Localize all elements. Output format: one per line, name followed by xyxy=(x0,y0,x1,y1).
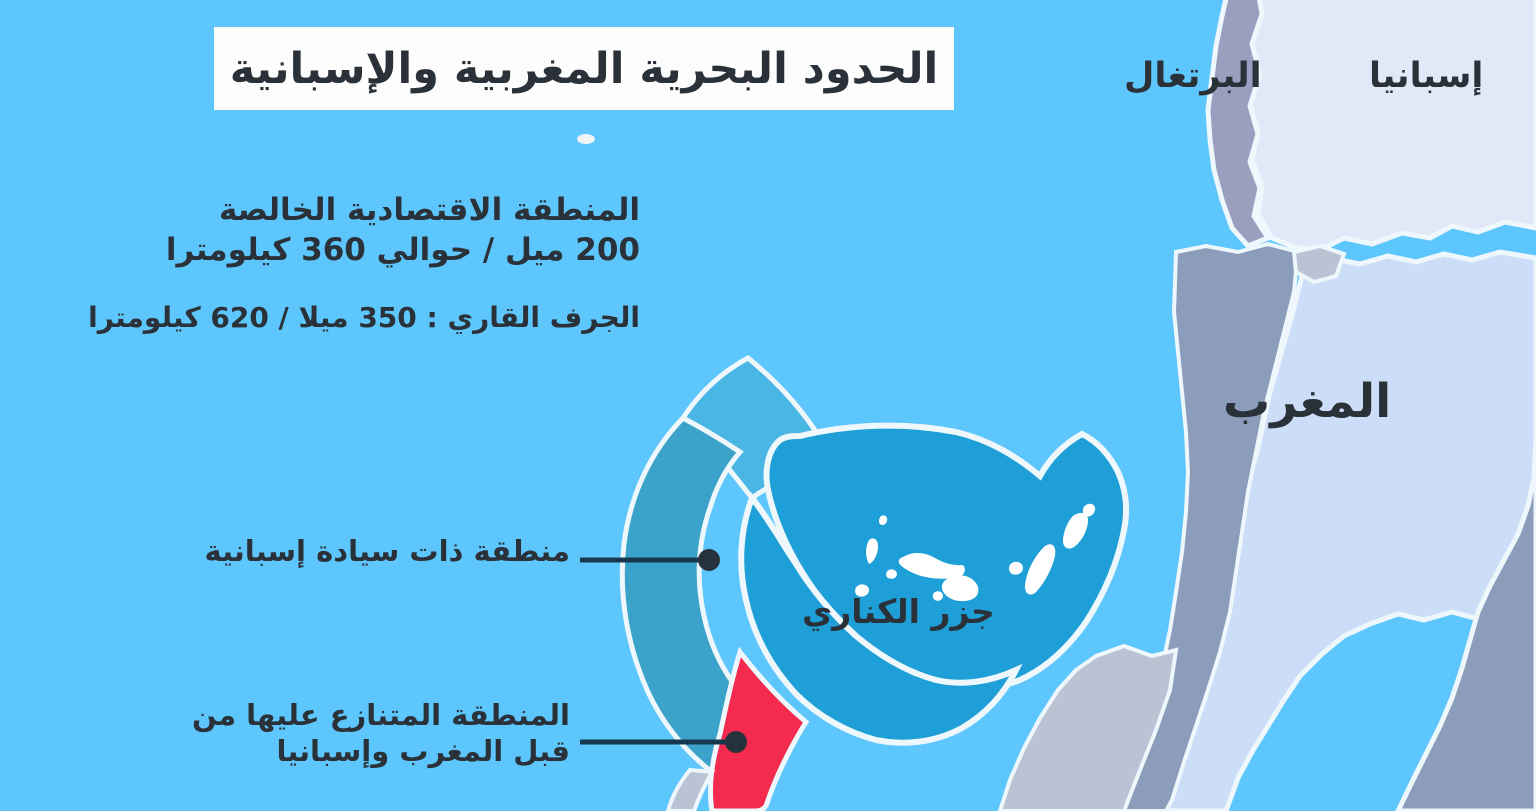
island-la-gomera xyxy=(886,569,897,578)
callout-disputed-line1: المنطقة المتنازع عليها من xyxy=(130,697,570,733)
callout-disputed-line2: قبل المغرب وإسبانيا xyxy=(130,733,570,769)
leader-dot-spanish-sovereignty xyxy=(698,549,720,571)
callout-label-spanish-sovereignty: منطقة ذات سيادة إسبانية xyxy=(130,533,570,569)
page-title: الحدود البحرية المغربية والإسبانية xyxy=(230,44,939,94)
legend-eez-distance: 200 ميل / حوالي 360 كيلومترا xyxy=(150,230,640,270)
place-label-morocco: المغرب xyxy=(1223,374,1391,429)
maritime-borders-infographic: الحدود البحرية المغربية والإسبانية المنط… xyxy=(0,0,1536,811)
legend-continental-shelf: الجرف القاري : 350 ميلا / 620 كيلومترا xyxy=(22,299,640,337)
callout-label-disputed: المنطقة المتنازع عليها من قبل المغرب وإس… xyxy=(130,697,570,769)
spain-landmass xyxy=(1250,0,1536,250)
legend-eez: المنطقة الاقتصادية الخالصة 200 ميل / حوا… xyxy=(150,190,640,270)
page-title-box: الحدود البحرية المغربية والإسبانية xyxy=(214,27,954,110)
place-label-portugal: البرتغال xyxy=(1124,56,1262,96)
leader-dot-disputed xyxy=(725,731,747,753)
decorative-speck xyxy=(577,134,595,144)
callout-spanish-sovereignty-text: منطقة ذات سيادة إسبانية xyxy=(130,533,570,569)
legend-eez-name: المنطقة الاقتصادية الخالصة xyxy=(150,190,640,230)
ceuta-strip xyxy=(1294,246,1344,282)
place-label-spain: إسبانيا xyxy=(1369,56,1483,96)
place-label-canary-islands: جزر الكناري xyxy=(802,592,995,631)
